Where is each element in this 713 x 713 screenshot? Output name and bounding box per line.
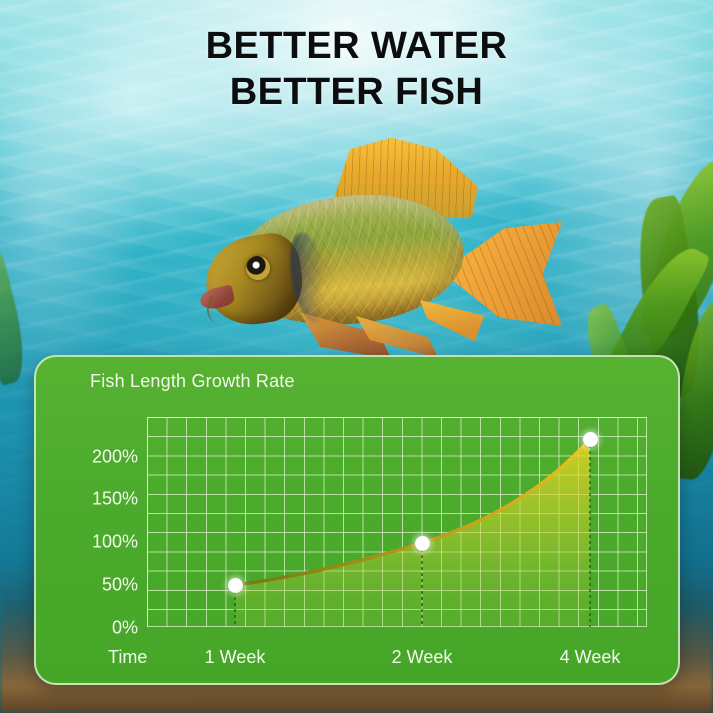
y-axis-label-150: 150%: [66, 489, 138, 510]
chart-data-point[interactable]: [228, 578, 243, 593]
chart-plot-area: [147, 417, 647, 627]
x-axis-label-4w: 4 Week: [560, 647, 621, 668]
chart-title: Fish Length Growth Rate: [90, 371, 295, 392]
promo-graphic: BETTER WATER BETTER FISH Fish Length Gro…: [0, 0, 713, 713]
growth-chart-panel: Fish Length Growth Rate: [34, 355, 680, 685]
x-axis-label-1w: 1 Week: [205, 647, 266, 668]
headline-line-2: BETTER FISH: [0, 70, 713, 116]
chart-data-point[interactable]: [415, 536, 430, 551]
chart-area-fill: [235, 439, 590, 627]
x-axis-title: Time: [108, 647, 147, 668]
chart-curve-svg: [147, 417, 647, 627]
x-axis-label-2w: 2 Week: [392, 647, 453, 668]
headline: BETTER WATER BETTER FISH: [0, 24, 713, 115]
chart-data-point[interactable]: [583, 432, 598, 447]
fish-eye: [246, 256, 270, 280]
y-axis-label-100: 100%: [66, 532, 138, 553]
headline-line-1: BETTER WATER: [206, 25, 508, 67]
y-axis-label-200: 200%: [66, 447, 138, 468]
y-axis-label-0: 0%: [66, 618, 138, 639]
y-axis-label-50: 50%: [66, 575, 138, 596]
